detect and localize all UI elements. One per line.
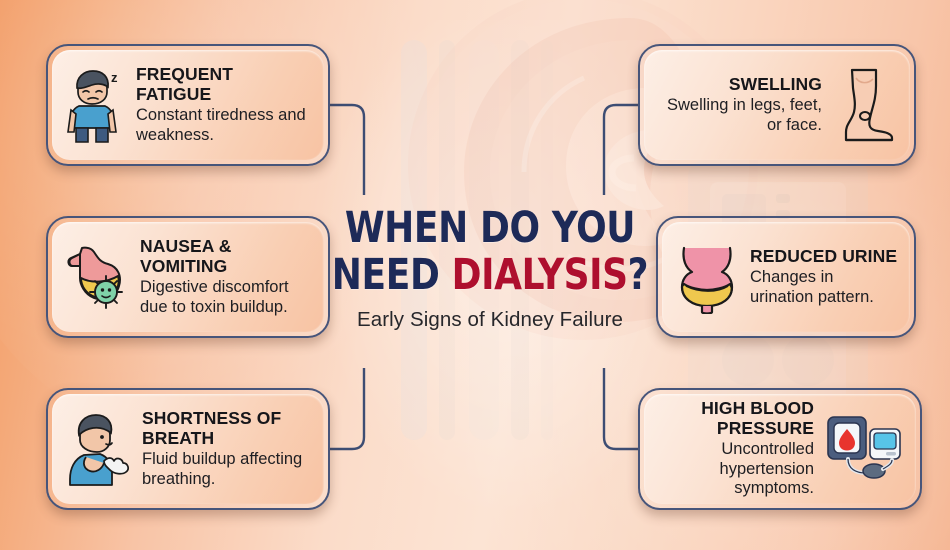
title-dialysis-text: DIALYSIS bbox=[452, 250, 628, 300]
card-frequent-fatigue[interactable]: z FREQUENT FATIGUE Constant tiredness an… bbox=[46, 44, 330, 166]
card-title: FREQUENT FATIGUE bbox=[136, 65, 312, 104]
card-title: HIGH BLOOD PRESSURE bbox=[656, 399, 814, 438]
card-title: REDUCED URINE bbox=[750, 247, 898, 267]
title-line-2: NEED DIALYSIS? bbox=[330, 252, 650, 299]
card-description: Fluid buildup affecting breathing. bbox=[142, 450, 312, 489]
card-reduced-urine[interactable]: REDUCED URINE Changes in urination patte… bbox=[656, 216, 916, 338]
card-description: Constant tiredness and weakness. bbox=[136, 106, 312, 145]
blood-pressure-monitor-icon bbox=[824, 413, 904, 485]
card-title: SWELLING bbox=[656, 75, 822, 95]
center-subtitle: Early Signs of Kidney Failure bbox=[318, 308, 662, 332]
title-line-1: WHEN DO YOU bbox=[330, 205, 650, 252]
connector-swelling bbox=[604, 105, 638, 195]
coughing-person-icon bbox=[64, 411, 132, 487]
swollen-foot-icon bbox=[832, 66, 898, 144]
infographic-canvas: WHEN DO YOU NEED DIALYSIS? Early Signs o… bbox=[0, 0, 950, 550]
connector-breath bbox=[330, 368, 364, 449]
card-description: Changes in urination pattern. bbox=[750, 268, 898, 307]
card-title: SHORTNESS OF BREATH bbox=[142, 409, 312, 448]
title-need-text: NEED bbox=[332, 250, 452, 300]
card-nausea-vomiting[interactable]: NAUSEA & VOMITING Digestive discomfort d… bbox=[46, 216, 330, 338]
center-title-block: WHEN DO YOU NEED DIALYSIS? Early Signs o… bbox=[318, 205, 662, 332]
connector-fatigue bbox=[330, 105, 364, 195]
card-title: NAUSEA & VOMITING bbox=[140, 237, 312, 276]
svg-text:z: z bbox=[111, 70, 118, 85]
connector-bp bbox=[604, 368, 638, 449]
card-high-blood-pressure[interactable]: HIGH BLOOD PRESSURE Uncontrolled hyperte… bbox=[638, 388, 922, 510]
tired-person-icon: z bbox=[64, 66, 126, 144]
title-question-mark: ? bbox=[628, 250, 649, 300]
card-swelling[interactable]: SWELLING Swelling in legs, feet, or face… bbox=[638, 44, 916, 166]
bladder-icon bbox=[674, 240, 740, 314]
card-description: Uncontrolled hypertension symptoms. bbox=[656, 440, 814, 499]
card-description: Swelling in legs, feet, or face. bbox=[656, 96, 822, 135]
stomach-virus-icon bbox=[64, 240, 130, 314]
card-shortness-of-breath[interactable]: SHORTNESS OF BREATH Fluid buildup affect… bbox=[46, 388, 330, 510]
card-description: Digestive discomfort due to toxin buildu… bbox=[140, 278, 312, 317]
